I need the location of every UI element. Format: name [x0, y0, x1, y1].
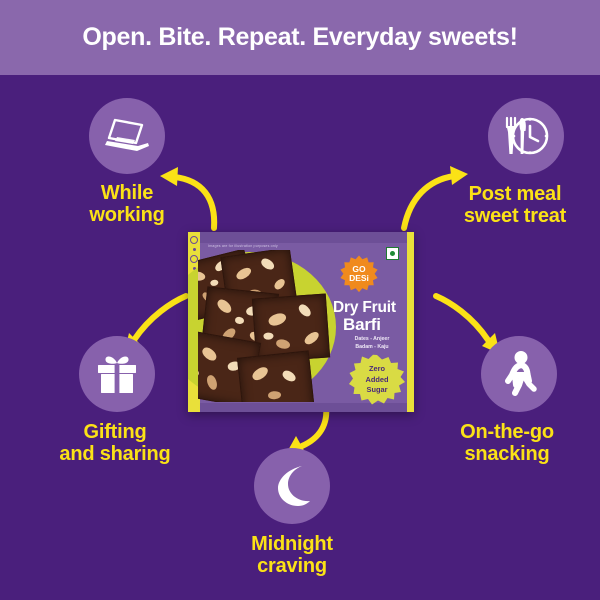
- icon-circle: [488, 98, 564, 174]
- border-motif: [190, 236, 198, 244]
- cutlery-clock-icon: [501, 114, 551, 158]
- occasion-post-meal[interactable]: Post meal sweet treat: [440, 98, 590, 228]
- headline-text: Open. Bite. Repeat. Everyday sweets!: [82, 23, 517, 52]
- zero-added-sugar-badge: Zero Added Sugar: [348, 354, 406, 406]
- product-photo: [198, 250, 344, 402]
- walking-person-icon: [500, 351, 538, 397]
- occasion-midnight[interactable]: Midnight craving: [222, 448, 362, 578]
- veg-symbol-icon: [386, 247, 399, 260]
- infographic-canvas: Open. Bite. Repeat. Everyday sweets!: [0, 0, 600, 600]
- go-desi-logo: GO DESi: [340, 255, 378, 293]
- occasion-label: Post meal sweet treat: [464, 183, 566, 228]
- icon-circle: [254, 448, 330, 524]
- header-banner: Open. Bite. Repeat. Everyday sweets!: [0, 0, 600, 75]
- pack-ingredients: Dates - Anjeer Badam - Kaju: [334, 336, 410, 352]
- crescent-moon-icon: [270, 463, 314, 509]
- occasion-on-the-go[interactable]: On-the-go snacking: [432, 336, 582, 466]
- product-pack[interactable]: Images are for illustration purposes onl…: [188, 232, 414, 412]
- pack-product-title: Dry Fruit Barfi: [333, 300, 411, 333]
- occasion-label: While working: [89, 182, 164, 227]
- border-motif: [190, 255, 198, 263]
- gift-box-icon: [95, 353, 139, 395]
- pack-disclaimer: Images are for illustration purposes onl…: [208, 244, 278, 248]
- pack-top-strip: [200, 232, 407, 243]
- title-line-2: Barfi: [343, 316, 411, 333]
- title-line-1: Dry Fruit: [333, 299, 396, 316]
- veg-dot: [390, 251, 395, 256]
- occasion-label: On-the-go snacking: [460, 421, 554, 466]
- zero-added-sugar-text: Zero Added Sugar: [348, 354, 406, 406]
- occasion-label: Gifting and sharing: [59, 421, 170, 466]
- icon-circle: [89, 98, 165, 174]
- icon-circle: [481, 336, 557, 412]
- occasion-while-working[interactable]: While working: [62, 98, 192, 227]
- brand-name: GO DESi: [340, 255, 378, 293]
- border-dot: [193, 248, 196, 251]
- occasion-gifting[interactable]: Gifting and sharing: [40, 336, 190, 466]
- barfi-piece: [237, 350, 315, 402]
- laptop-icon: [104, 117, 150, 155]
- brand-line-2: DESi: [349, 274, 369, 283]
- occasion-label: Midnight craving: [251, 533, 333, 578]
- icon-circle: [79, 336, 155, 412]
